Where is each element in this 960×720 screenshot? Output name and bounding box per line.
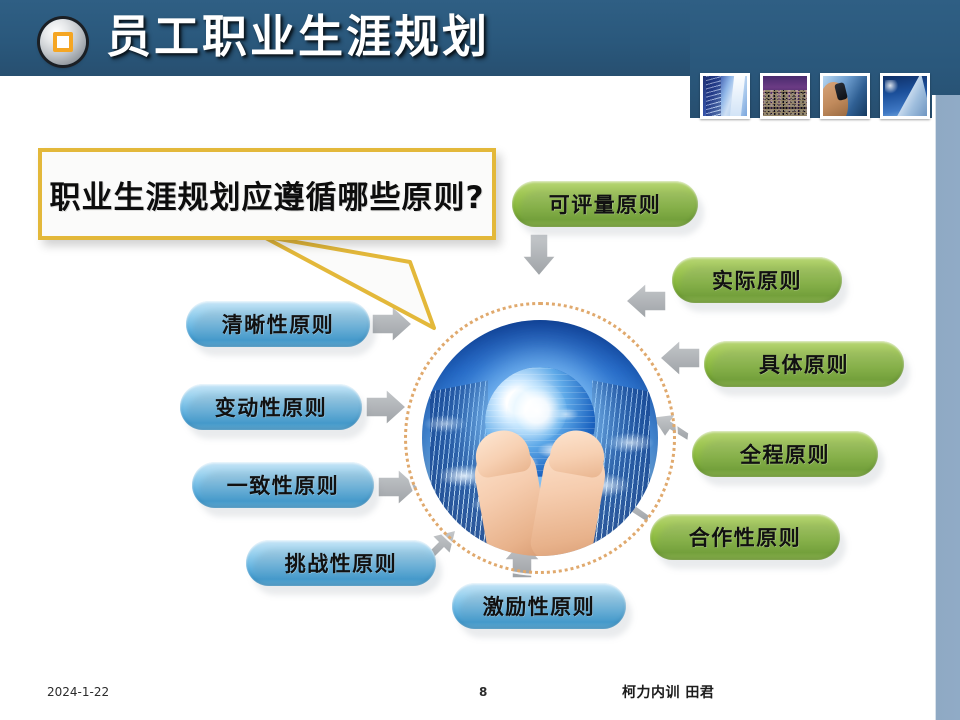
principle-juti[interactable]: 具体原则 [704, 341, 904, 387]
principle-kepingliang[interactable]: 可评量原则 [512, 181, 698, 227]
square-badge-icon [40, 19, 86, 65]
question-speech-bubble: 职业生涯规划应遵循哪些原则? [38, 148, 496, 240]
night-skyline-photo [760, 73, 810, 119]
principle-biandongxing[interactable]: 变动性原则 [180, 384, 362, 430]
speech-bubble-tail [262, 236, 442, 332]
hands-holding-globe-photo [422, 320, 658, 556]
arrow-down-1 [522, 234, 556, 276]
slide-canvas: 员工职业生涯规划 [0, 0, 960, 720]
principle-hezuoxing[interactable]: 合作性原则 [650, 514, 840, 560]
principle-quancheng[interactable]: 全程原则 [692, 431, 878, 477]
principle-jilixing[interactable]: 激励性原则 [452, 583, 626, 629]
footer-page-number: 8 [479, 685, 487, 699]
footer-credit: 柯力内训 田君 [622, 682, 714, 702]
center-illustration [404, 302, 676, 574]
right-edge-accent-band [932, 95, 960, 720]
glass-facade-photo [700, 73, 750, 119]
arrow-right-2 [366, 389, 406, 425]
question-text: 职业生涯规划应遵循哪些原则? [50, 172, 485, 217]
header-thumbnail-strip [700, 73, 930, 119]
principle-shiji[interactable]: 实际原则 [672, 257, 842, 303]
footer-date: 2024-1-22 [47, 685, 109, 699]
principle-tiaozhanxing[interactable]: 挑战性原则 [246, 540, 436, 586]
lens-flare [507, 381, 567, 441]
logo-glyph-inner [53, 32, 73, 52]
page-title: 员工职业生涯规划 [106, 8, 490, 66]
person-on-phone-photo [820, 73, 870, 119]
tower-sky-photo [880, 73, 930, 119]
principle-yizhixing[interactable]: 一致性原则 [192, 462, 374, 508]
